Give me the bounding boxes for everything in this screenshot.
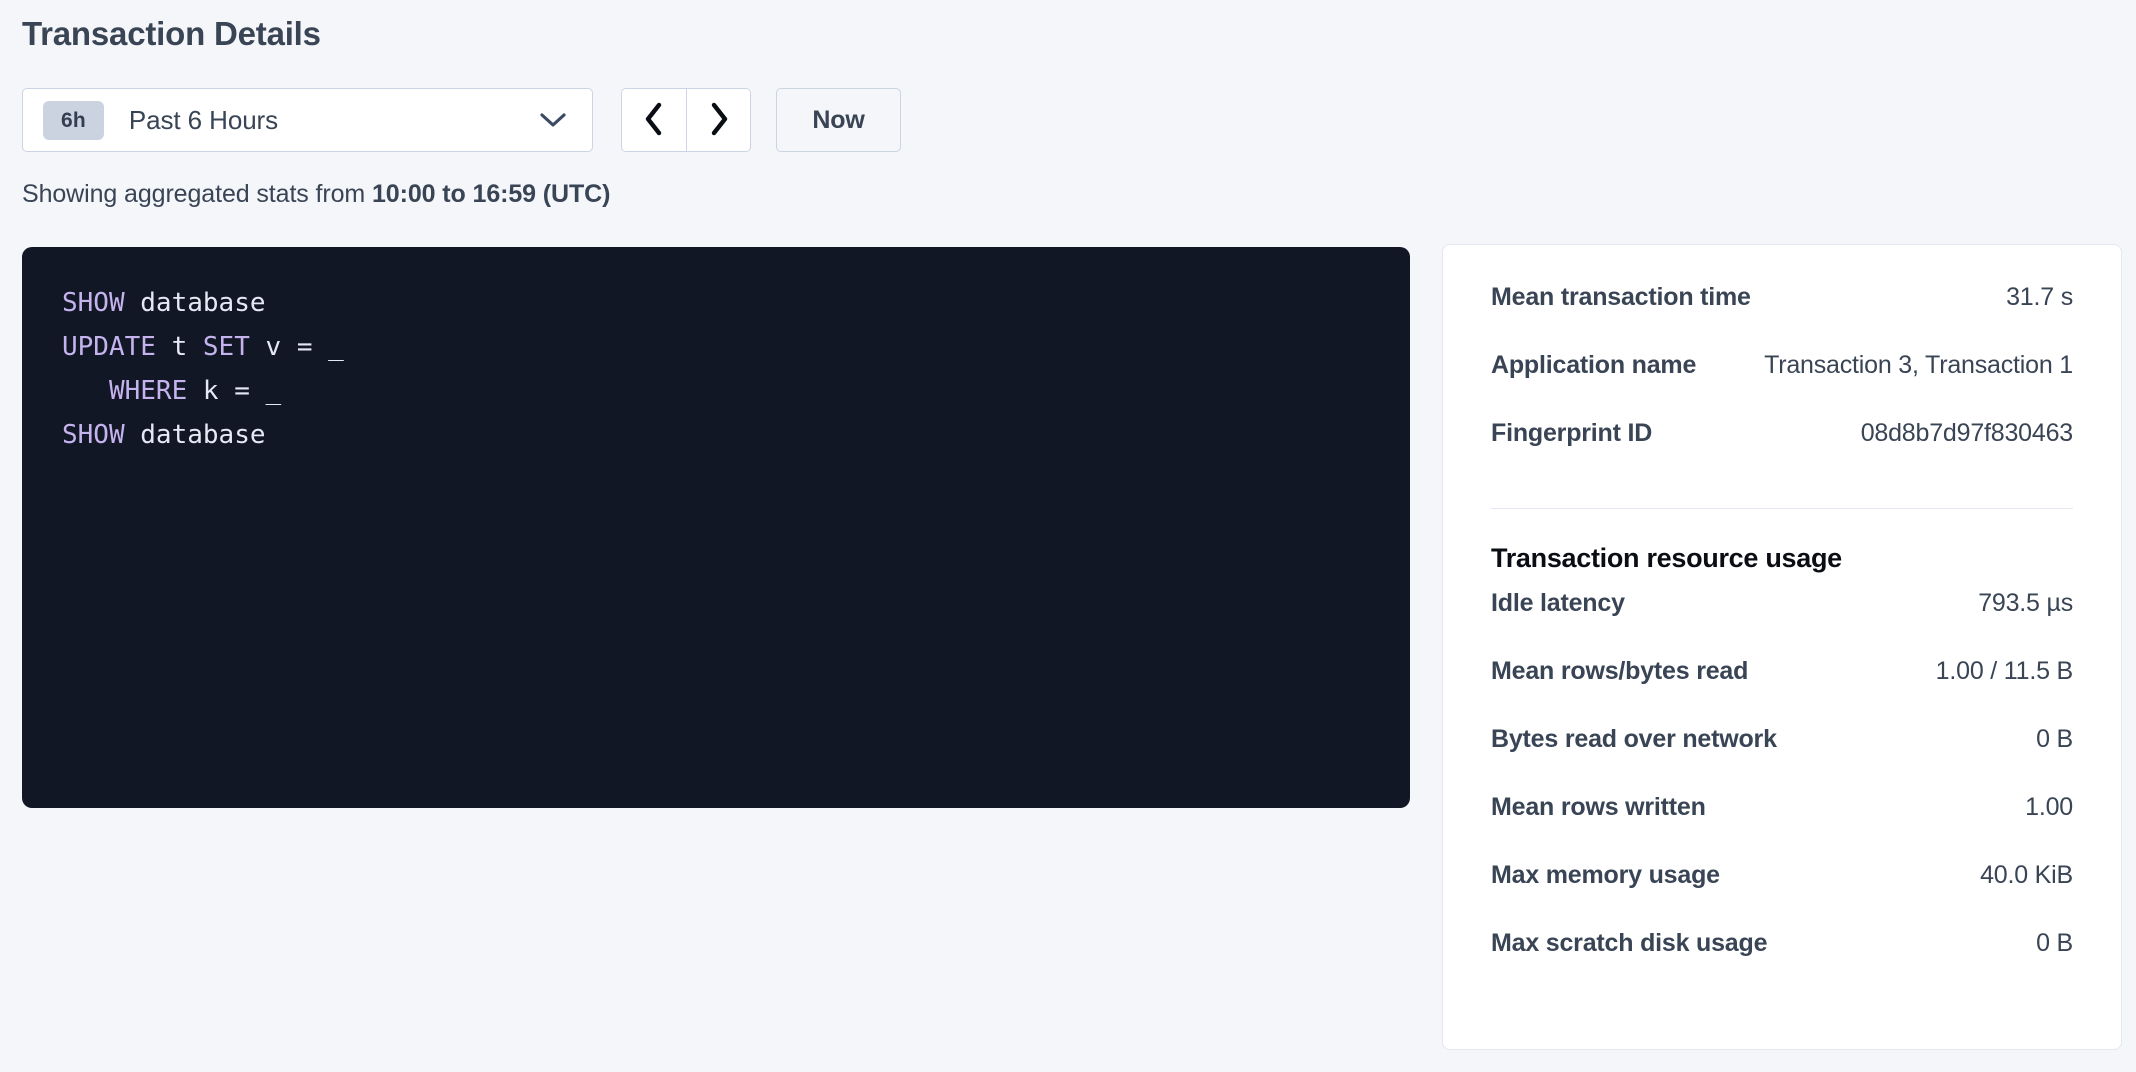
next-period-button[interactable] (686, 89, 750, 151)
aggregation-range-value: 10:00 to 16:59 (UTC) (372, 180, 610, 208)
time-range-select[interactable]: 6h Past 6 Hours (22, 88, 593, 152)
sql-token: database (140, 420, 265, 450)
stat-value: 793.5 µs (1964, 589, 2073, 618)
stat-value: 08d8b7d97f830463 (1847, 419, 2073, 448)
sql-keyword: SHOW (62, 420, 125, 450)
now-button[interactable]: Now (776, 88, 901, 152)
stat-label: Idle latency (1491, 589, 1625, 618)
transaction-detail-card: Mean transaction time31.7 sApplication n… (1442, 244, 2122, 1050)
sql-lines: SHOW databaseUPDATE t SET v = _ WHERE k … (62, 281, 1370, 457)
stat-label: Fingerprint ID (1491, 419, 1652, 448)
time-range-label: Past 6 Hours (129, 105, 278, 136)
stat-row: Application nameTransaction 3, Transacti… (1491, 351, 2073, 419)
stat-row: Bytes read over network0 B (1491, 725, 2073, 793)
section-divider (1491, 508, 2073, 509)
stat-label: Application name (1491, 351, 1696, 380)
stat-value: Transaction 3, Transaction 1 (1750, 351, 2073, 380)
stat-row: Mean transaction time31.7 s (1491, 283, 2073, 351)
stat-label: Mean transaction time (1491, 283, 1751, 312)
sql-token (125, 288, 141, 318)
sql-keyword: SET (203, 332, 250, 362)
summary-stats-list: Mean transaction time31.7 sApplication n… (1491, 283, 2073, 487)
sql-line: WHERE k = _ (62, 369, 1370, 413)
sql-line: UPDATE t SET v = _ (62, 325, 1370, 369)
time-range-toolbar: 6h Past 6 Hours (22, 88, 901, 152)
page-title: Transaction Details (22, 14, 321, 54)
stat-row: Max scratch disk usage0 B (1491, 929, 2073, 997)
sql-token (62, 376, 109, 406)
time-range-badge: 6h (43, 101, 104, 140)
resource-stats-list: Idle latency793.5 µsMean rows/bytes read… (1491, 589, 2073, 997)
sql-keyword: SHOW (62, 288, 125, 318)
chevron-down-icon (540, 112, 566, 128)
stat-row: Mean rows/bytes read1.00 / 11.5 B (1491, 657, 2073, 725)
stat-label: Max scratch disk usage (1491, 929, 1767, 958)
sql-line: SHOW database (62, 413, 1370, 457)
stat-value: 0 B (2022, 929, 2073, 958)
sql-line: SHOW database (62, 281, 1370, 325)
stat-value: 1.00 / 11.5 B (1922, 657, 2073, 686)
stat-row: Fingerprint ID08d8b7d97f830463 (1491, 419, 2073, 487)
stat-value: 0 B (2022, 725, 2073, 754)
transaction-details-page: Transaction Details 6h Past 6 Hours (0, 0, 2136, 1072)
sql-keyword: UPDATE (62, 332, 156, 362)
stat-label: Max memory usage (1491, 861, 1720, 890)
stat-label: Bytes read over network (1491, 725, 1777, 754)
stat-label: Mean rows/bytes read (1491, 657, 1748, 686)
sql-token: k = _ (187, 376, 281, 406)
resource-usage-heading: Transaction resource usage (1491, 541, 2073, 575)
stat-label: Mean rows written (1491, 793, 1706, 822)
sql-token: t (156, 332, 203, 362)
chevron-right-icon (708, 102, 730, 139)
stat-row: Max memory usage40.0 KiB (1491, 861, 2073, 929)
chevron-left-icon (643, 102, 665, 139)
sql-token: database (140, 288, 265, 318)
aggregation-range-prefix: Showing aggregated stats from (22, 180, 372, 208)
stat-row: Idle latency793.5 µs (1491, 589, 2073, 657)
sql-statement-block[interactable]: SHOW databaseUPDATE t SET v = _ WHERE k … (22, 247, 1410, 808)
sql-token (125, 420, 141, 450)
sql-token: v = _ (250, 332, 344, 362)
aggregation-range-text: Showing aggregated stats from 10:00 to 1… (22, 178, 610, 210)
sql-keyword: WHERE (109, 376, 187, 406)
stat-value: 1.00 (2011, 793, 2073, 822)
time-nav-group (621, 88, 751, 152)
stat-value: 40.0 KiB (1966, 861, 2073, 890)
stat-value: 31.7 s (1992, 283, 2073, 312)
previous-period-button[interactable] (622, 89, 686, 151)
stat-row: Mean rows written1.00 (1491, 793, 2073, 861)
